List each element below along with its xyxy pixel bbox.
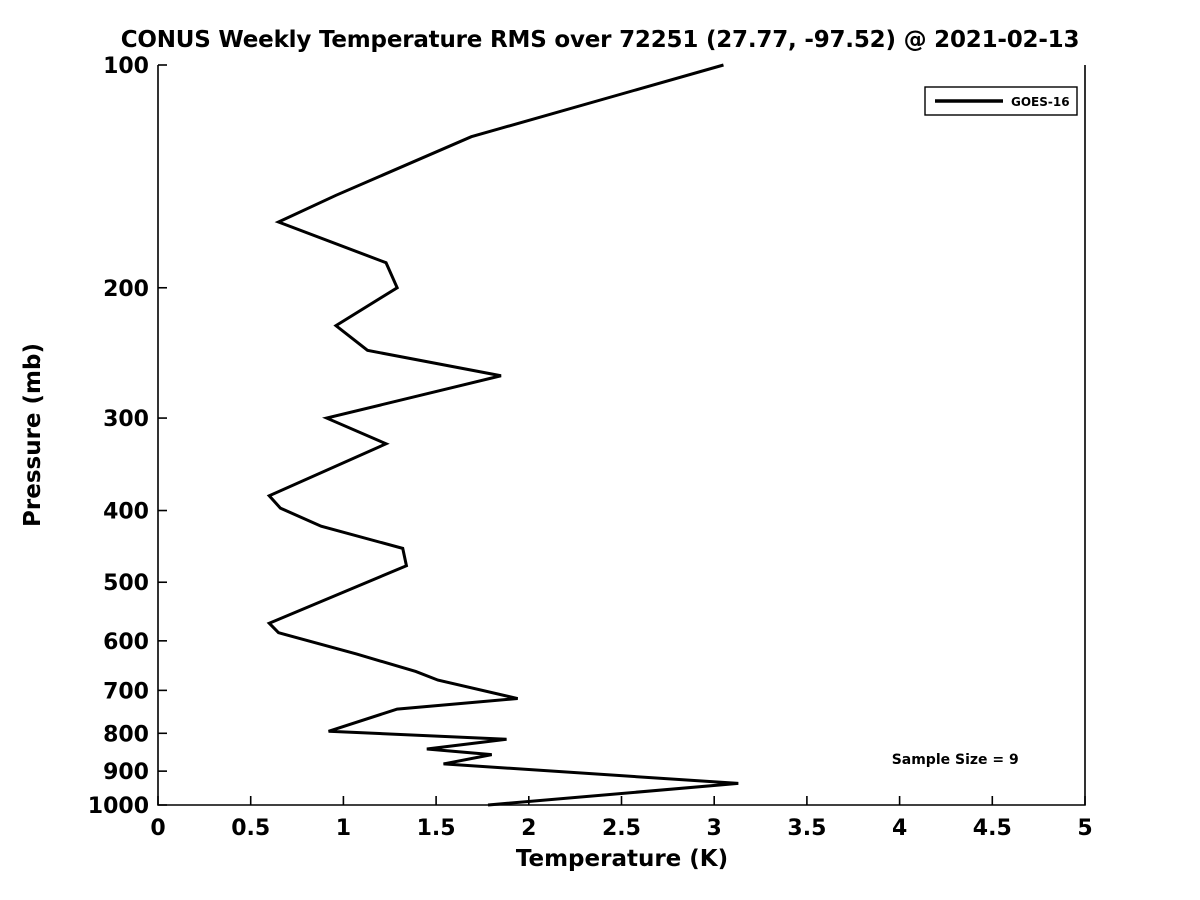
x-tick-label-0.5: 0.5 — [231, 816, 270, 841]
x-tick-label-3: 3 — [707, 816, 722, 841]
x-tick-label-4.5: 4.5 — [973, 816, 1012, 841]
x-tick-label-4: 4 — [892, 816, 907, 841]
y-tick-label-200: 200 — [103, 277, 149, 302]
x-axis-label: Temperature (K) — [516, 846, 728, 872]
data-series-lines — [269, 65, 738, 805]
sample-size-annotation: Sample Size = 9 — [892, 752, 1019, 768]
chart-figure: CONUS Weekly Temperature RMS over 72251 … — [0, 0, 1200, 900]
y-tick-label-500: 500 — [103, 571, 149, 596]
legend-label-goes-16: GOES-16 — [1011, 95, 1070, 109]
y-tick-label-600: 600 — [103, 630, 149, 655]
x-tick-label-2.5: 2.5 — [602, 816, 641, 841]
chart-annotations: Sample Size = 9 — [892, 752, 1019, 768]
y-tick-label-400: 400 — [103, 500, 149, 525]
axis-ticks — [158, 65, 1085, 805]
y-tick-label-700: 700 — [103, 679, 149, 704]
y-tick-label-800: 800 — [103, 722, 149, 747]
y-tick-label-300: 300 — [103, 407, 149, 432]
x-tick-label-1: 1 — [336, 816, 351, 841]
x-tick-label-3.5: 3.5 — [787, 816, 826, 841]
x-tick-label-1.5: 1.5 — [417, 816, 456, 841]
temperature-rms-profile-plot: 00.511.522.533.544.551002003004005006007… — [0, 0, 1200, 900]
x-tick-label-5: 5 — [1077, 816, 1092, 841]
y-tick-label-900: 900 — [103, 760, 149, 785]
y-tick-label-100: 100 — [103, 54, 149, 79]
y-tick-label-1000: 1000 — [88, 794, 149, 819]
y-axis-label: Pressure (mb) — [20, 343, 46, 527]
axis-tick-labels: 00.511.522.533.544.551002003004005006007… — [88, 54, 1093, 841]
chart-legend[interactable]: GOES-16 — [925, 87, 1077, 115]
x-tick-label-0: 0 — [150, 816, 165, 841]
axes-frame — [158, 65, 1085, 805]
series-line-goes-16 — [269, 65, 738, 805]
x-tick-label-2: 2 — [521, 816, 536, 841]
